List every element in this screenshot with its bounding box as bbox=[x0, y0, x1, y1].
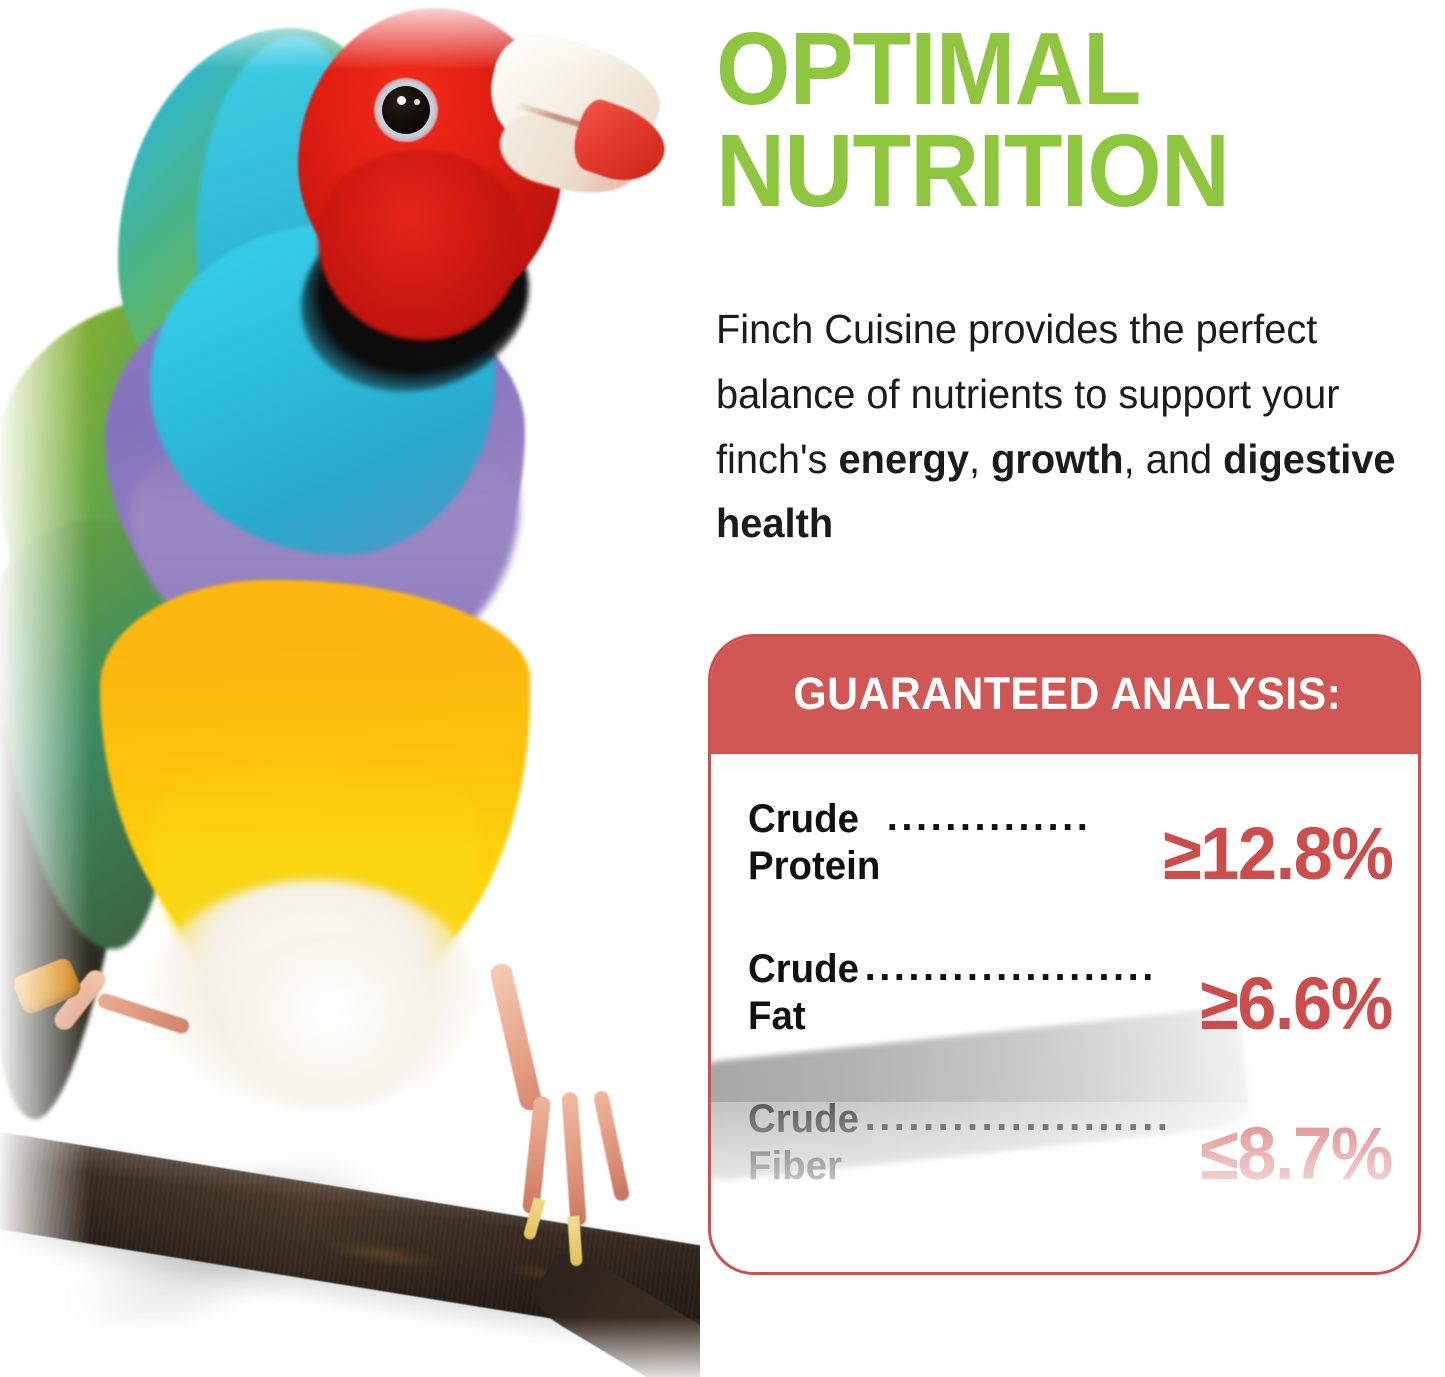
headline-line-2: NUTRITION bbox=[716, 113, 1229, 228]
product-infographic: OPTIMAL NUTRITION Finch Cuisine provides… bbox=[0, 0, 1445, 1377]
guaranteed-analysis-rows: Crude Protein .............. ≥12.8% Crud… bbox=[711, 757, 1418, 1272]
head-red-cheek bbox=[318, 150, 523, 340]
leg-right bbox=[488, 961, 543, 1112]
toe-front-outer bbox=[593, 1090, 631, 1203]
analysis-label-crude-protein: Crude Protein bbox=[748, 796, 880, 889]
guaranteed-analysis-title: GUARANTEED ANALYSIS: bbox=[794, 668, 1342, 720]
analysis-dot-leader-crude-fat: .................... bbox=[865, 947, 1191, 987]
description-sep-1: , bbox=[969, 436, 991, 482]
eye-glint bbox=[397, 96, 406, 105]
content-column: OPTIMAL NUTRITION Finch Cuisine provides… bbox=[700, 0, 1445, 1377]
analysis-value-crude-protein: ≥12.8% bbox=[1163, 818, 1392, 889]
description-bold-energy: energy bbox=[839, 436, 969, 482]
analysis-row-crude-fiber: Crude Fiber ..................... ≤8.7% bbox=[711, 1057, 1418, 1207]
vent-white-highlight bbox=[225, 930, 435, 1110]
analysis-value-crude-fat: ≥6.6% bbox=[1200, 968, 1392, 1039]
guaranteed-analysis-header: GUARANTEED ANALYSIS: bbox=[708, 634, 1421, 754]
analysis-value-crude-fiber: ≤8.7% bbox=[1200, 1118, 1392, 1189]
gouldian-finch bbox=[0, 0, 700, 1377]
analysis-dot-leader-crude-protein: .............. bbox=[887, 797, 1151, 837]
description-bold-growth: growth bbox=[991, 436, 1124, 482]
eye-glint-secondary bbox=[414, 99, 420, 105]
page-title: OPTIMAL NUTRITION bbox=[716, 18, 1386, 222]
guaranteed-analysis-card: GUARANTEED ANALYSIS: Crude Protein .....… bbox=[708, 634, 1421, 1275]
toe-front-middle bbox=[561, 1092, 586, 1227]
finch-product-photo bbox=[0, 0, 700, 1377]
description-sep-2: , and bbox=[1124, 436, 1224, 482]
eye bbox=[382, 86, 430, 134]
toe-front-inner bbox=[522, 1095, 551, 1214]
analysis-label-crude-fiber: Crude Fiber bbox=[748, 1096, 859, 1189]
analysis-row-crude-fat: Crude Fat .................... ≥6.6% bbox=[711, 907, 1418, 1057]
headline-line-1: OPTIMAL bbox=[716, 11, 1141, 126]
analysis-row-crude-protein: Crude Protein .............. ≥12.8% bbox=[711, 757, 1418, 907]
analysis-dot-leader-crude-fiber: ..................... bbox=[865, 1097, 1191, 1137]
product-description: Finch Cuisine provides the perfect balan… bbox=[716, 297, 1410, 556]
analysis-label-crude-fat: Crude Fat bbox=[748, 946, 859, 1039]
